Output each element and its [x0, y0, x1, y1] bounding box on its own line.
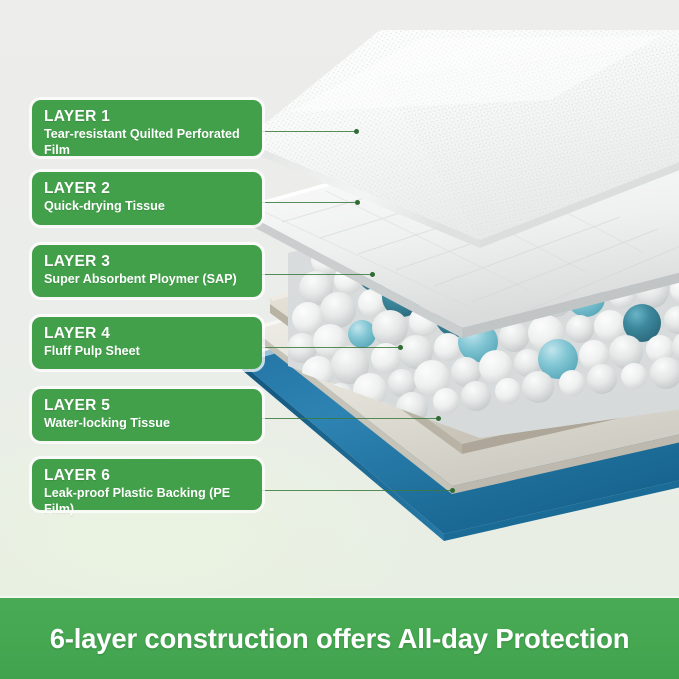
layer-1-description: Tear-resistant Quilted Perforated Film: [44, 127, 251, 158]
connector-dot-5: [436, 416, 441, 421]
connector-line-5: [262, 418, 438, 419]
layer-4-description: Fluff Pulp Sheet: [44, 344, 251, 359]
bottom-banner: 6-layer construction offers All-day Prot…: [0, 596, 679, 679]
connector-line-3: [262, 274, 372, 275]
layer-2-title: LAYER 2: [44, 180, 251, 197]
layer-label-5[interactable]: LAYER 5 Water-locking Tissue: [32, 389, 262, 441]
banner-headline: 6-layer construction offers All-day Prot…: [50, 623, 630, 655]
connector-dot-4: [398, 345, 403, 350]
layer-5-description: Water-locking Tissue: [44, 416, 251, 431]
product-cutaway-illustration: [230, 8, 679, 588]
layer-1-title: LAYER 1: [44, 108, 251, 125]
layer-6-description: Leak-proof Plastic Backing (PE Film): [44, 486, 251, 517]
layer-label-1[interactable]: LAYER 1 Tear-resistant Quilted Perforate…: [32, 100, 262, 156]
connector-dot-1: [354, 129, 359, 134]
connector-line-6: [262, 490, 452, 491]
connector-line-4: [262, 347, 400, 348]
layer-label-6[interactable]: LAYER 6 Leak-proof Plastic Backing (PE F…: [32, 459, 262, 510]
connector-dot-6: [450, 488, 455, 493]
layer-2-description: Quick-drying Tissue: [44, 199, 251, 214]
layer-label-3[interactable]: LAYER 3 Super Absorbent Ploymer (SAP): [32, 245, 262, 297]
connector-dot-3: [370, 272, 375, 277]
layer-3-title: LAYER 3: [44, 253, 251, 270]
layer-6-title: LAYER 6: [44, 467, 251, 484]
layer-4-title: LAYER 4: [44, 325, 251, 342]
connector-line-1: [262, 131, 356, 132]
connector-line-2: [262, 202, 357, 203]
layer-5-title: LAYER 5: [44, 397, 251, 414]
connector-dot-2: [355, 200, 360, 205]
layer-label-2[interactable]: LAYER 2 Quick-drying Tissue: [32, 172, 262, 225]
layer-label-4[interactable]: LAYER 4 Fluff Pulp Sheet: [32, 317, 262, 369]
layer-3-description: Super Absorbent Ploymer (SAP): [44, 272, 251, 287]
